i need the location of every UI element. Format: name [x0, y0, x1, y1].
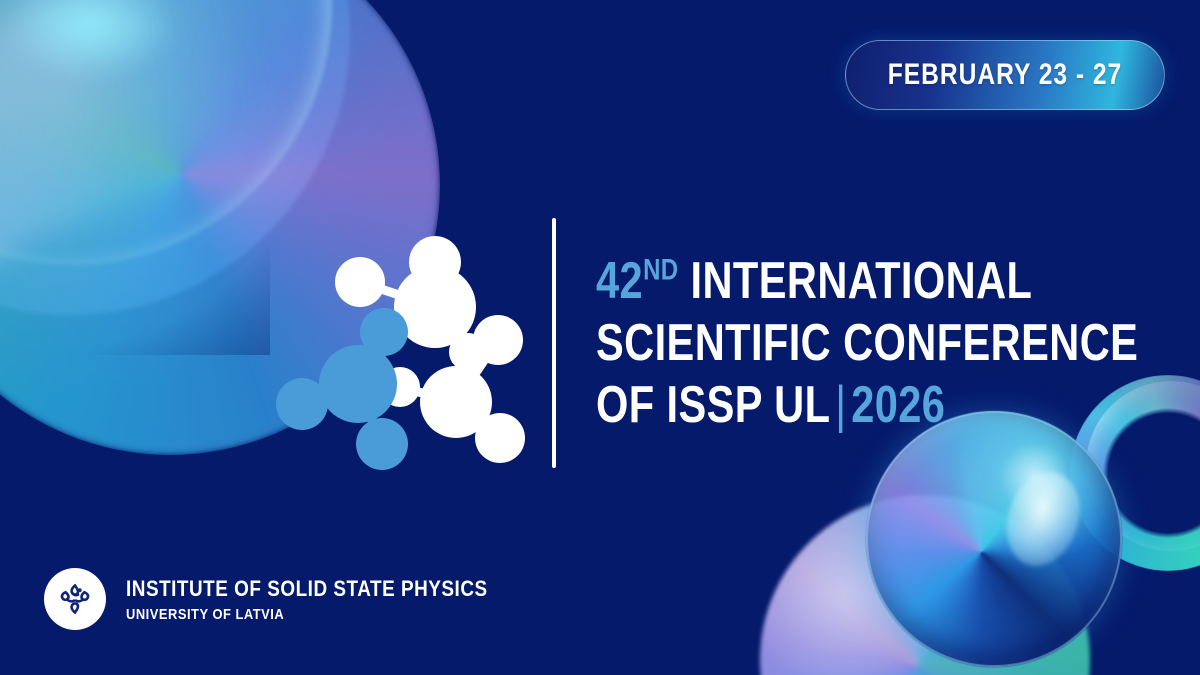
title-lockup: 42ND INTERNATIONAL SCIENTIFIC CONFERENCE…	[272, 212, 1200, 474]
conference-year: 2026	[851, 376, 945, 434]
institute-name: INSTITUTE OF SOLID STATE PHYSICS	[126, 576, 488, 602]
conference-banner: FEBRUARY 23 - 27	[0, 0, 1200, 675]
institute-logo: INSTITUTE OF SOLID STATE PHYSICS UNIVERS…	[44, 568, 547, 630]
date-badge-label: FEBRUARY 23 - 27	[888, 58, 1122, 92]
decor-sphere-glow	[0, 0, 180, 80]
molecule-network-icon	[272, 212, 534, 474]
trefoil-glyph	[53, 577, 97, 621]
date-badge: FEBRUARY 23 - 27	[845, 40, 1165, 110]
institute-text: INSTITUTE OF SOLID STATE PHYSICS UNIVERS…	[126, 576, 547, 623]
conference-title: 42ND INTERNATIONAL SCIENTIFIC CONFERENCE…	[596, 250, 1200, 436]
institute-subtitle: UNIVERSITY OF LATVIA	[126, 606, 488, 623]
title-line-1-rest: INTERNATIONAL	[691, 252, 1033, 310]
issp-trefoil-logo-icon	[44, 568, 106, 630]
decor-light-streak	[0, 0, 305, 380]
title-divider	[552, 218, 556, 468]
decor-specular-highlight	[995, 463, 1091, 576]
edition-ordinal-suffix: ND	[643, 254, 678, 287]
title-line-3-main: OF ISSP UL	[596, 376, 830, 434]
title-line-3: OF ISSP UL|2026	[596, 374, 1138, 436]
title-separator: |	[830, 376, 851, 434]
decor-sphere-iridescent	[760, 495, 1090, 675]
title-line-2: SCIENTIFIC CONFERENCE	[596, 312, 1138, 374]
title-line-1: 42ND INTERNATIONAL	[596, 250, 1138, 312]
decor-top-left-fade	[0, 0, 270, 355]
edition-number: 42	[596, 252, 643, 310]
